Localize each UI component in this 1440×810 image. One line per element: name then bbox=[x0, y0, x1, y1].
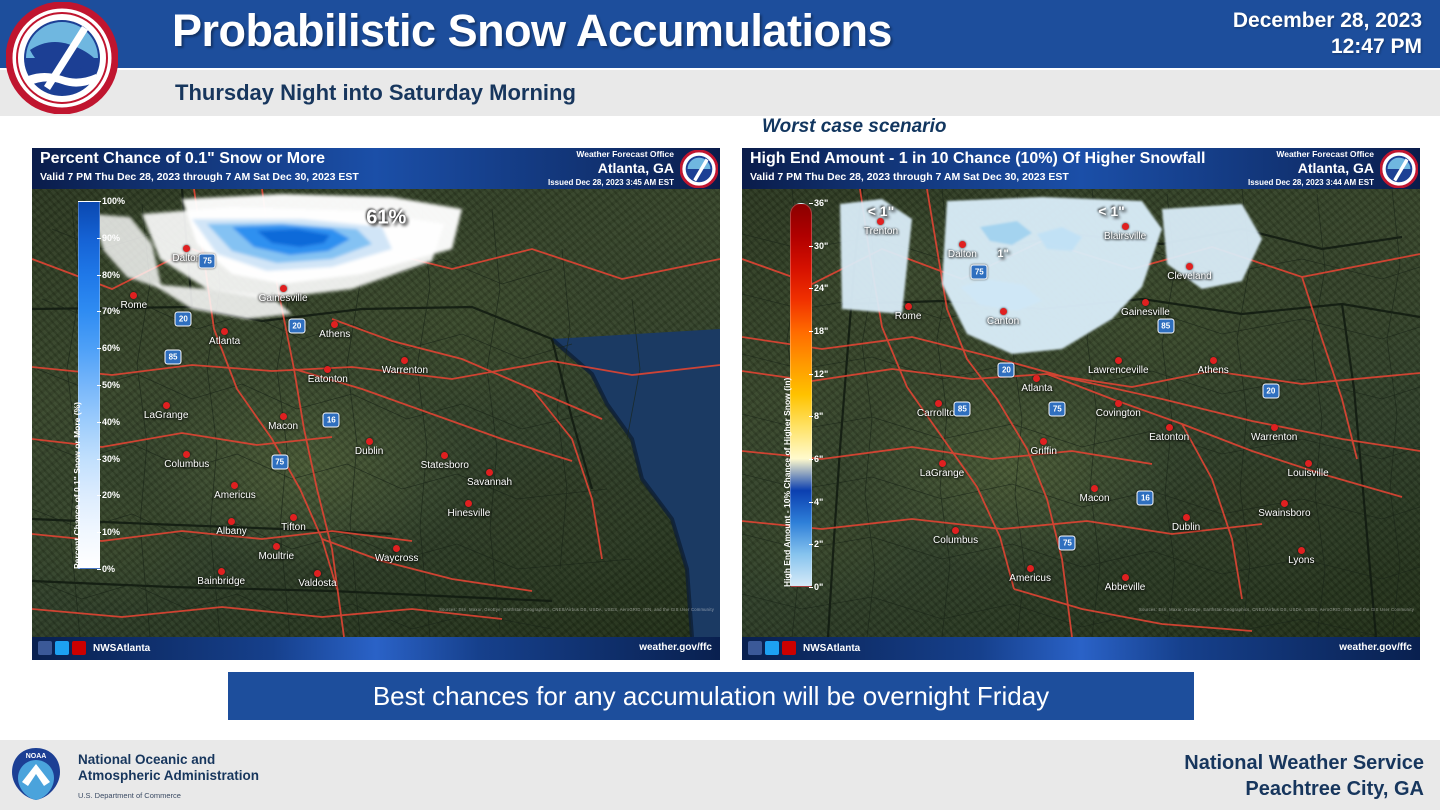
high-end-amount-map-panel: High End Amount - 1 in 10 Chance (10%) O… bbox=[742, 148, 1420, 660]
header-datetime: December 28, 2023 12:47 PM bbox=[1092, 8, 1422, 60]
right-colorbar-gradient bbox=[790, 203, 812, 587]
youtube-icon[interactable] bbox=[782, 641, 796, 655]
right-annotation-1: < 1" bbox=[868, 203, 895, 219]
header-date: December 28, 2023 bbox=[1092, 8, 1422, 34]
city-label: Gainesville bbox=[259, 293, 308, 304]
city-label: LaGrange bbox=[144, 410, 188, 421]
city-label: Hinesville bbox=[447, 508, 490, 519]
city-label: Covington bbox=[1096, 408, 1141, 419]
left-colorbar-tick: 100% bbox=[102, 196, 125, 206]
city-label: Cleveland bbox=[1167, 271, 1211, 282]
probability-map-panel: Percent Chance of 0.1" Snow or More Vali… bbox=[32, 148, 720, 660]
right-office-label: Weather Forecast Office bbox=[1276, 149, 1374, 160]
left-colorbar-tick: 10% bbox=[102, 527, 120, 537]
right-map-canvas[interactable]: < 1" < 1" 1" High End Amount - 10% Chanc… bbox=[742, 189, 1420, 637]
right-colorbar-title: High End Amount - 10% Chance of Higher S… bbox=[782, 378, 792, 587]
summary-caption-box: Best chances for any accumulation will b… bbox=[228, 672, 1194, 720]
city-dot-icon bbox=[1115, 357, 1122, 364]
left-colorbar-tick: 20% bbox=[102, 490, 120, 500]
interstate-shield-icon: 20 bbox=[288, 318, 305, 333]
city-label: Americus bbox=[214, 490, 256, 501]
city-label: Albany bbox=[216, 526, 247, 537]
city-dot-icon bbox=[905, 303, 912, 310]
city-label: Valdosta bbox=[298, 578, 336, 589]
city-dot-icon bbox=[1122, 223, 1129, 230]
right-banner-office: Weather Forecast Office Atlanta, GA bbox=[1276, 149, 1374, 176]
city-dot-icon bbox=[1186, 263, 1193, 270]
probability-peak-annotation: 61% bbox=[366, 207, 406, 230]
city-label: Tifton bbox=[281, 522, 306, 533]
city-dot-icon bbox=[935, 400, 942, 407]
city-dot-icon bbox=[183, 245, 190, 252]
city-label: Blairsville bbox=[1104, 231, 1146, 242]
worst-case-label: Worst case scenario bbox=[762, 116, 946, 138]
city-label: Swainsboro bbox=[1258, 508, 1310, 519]
city-dot-icon bbox=[1040, 438, 1047, 445]
city-dot-icon bbox=[331, 321, 338, 328]
city-label: Eatonton bbox=[1149, 432, 1189, 443]
interstate-shield-icon: 75 bbox=[1049, 401, 1066, 416]
left-social-handle: NWSAtlanta bbox=[93, 643, 150, 654]
city-dot-icon bbox=[465, 500, 472, 507]
left-map-banner: Percent Chance of 0.1" Snow or More Vali… bbox=[32, 148, 720, 189]
city-dot-icon bbox=[1115, 400, 1122, 407]
right-colorbar-tick: 12" bbox=[814, 369, 828, 379]
right-banner-valid-time: Valid 7 PM Thu Dec 28, 2023 through 7 AM… bbox=[750, 171, 1069, 183]
interstate-shield-icon: 20 bbox=[175, 311, 192, 326]
city-label: Columbus bbox=[933, 535, 978, 546]
city-label: Rome bbox=[120, 300, 147, 311]
summary-caption-text: Best chances for any accumulation will b… bbox=[373, 681, 1049, 712]
left-social-links[interactable]: NWSAtlanta bbox=[38, 641, 150, 655]
left-colorbar: Percent Chance of 0.1" Snow or More (%) … bbox=[78, 201, 158, 569]
city-label: Dalton bbox=[172, 253, 201, 264]
right-colorbar: High End Amount - 10% Chance of Higher S… bbox=[790, 203, 870, 587]
left-footer-url[interactable]: weather.gov/ffc bbox=[639, 642, 712, 653]
city-label: Trenton bbox=[864, 226, 898, 237]
city-dot-icon bbox=[1210, 357, 1217, 364]
city-label: Griffin bbox=[1030, 446, 1057, 457]
right-colorbar-tick: 8" bbox=[814, 411, 823, 421]
city-label: Atlanta bbox=[209, 336, 240, 347]
city-label: Warrenton bbox=[382, 365, 428, 376]
left-office-label: Weather Forecast Office bbox=[576, 149, 674, 160]
city-label: Bainbridge bbox=[197, 576, 245, 587]
city-label: Dublin bbox=[355, 446, 383, 457]
right-social-links[interactable]: NWSAtlanta bbox=[748, 641, 860, 655]
interstate-shield-icon: 85 bbox=[954, 401, 971, 416]
nws-line1: National Weather Service bbox=[1184, 750, 1424, 776]
city-label: Canton bbox=[987, 316, 1019, 327]
right-map-banner: High End Amount - 1 in 10 Chance (10%) O… bbox=[742, 148, 1420, 189]
city-dot-icon bbox=[1298, 547, 1305, 554]
right-banner-title: High End Amount - 1 in 10 Chance (10%) O… bbox=[750, 150, 1205, 168]
noaa-department: U.S. Department of Commerce bbox=[78, 788, 259, 804]
city-dot-icon bbox=[441, 452, 448, 459]
left-colorbar-tick: 0% bbox=[102, 564, 115, 574]
city-label: Warrenton bbox=[1251, 432, 1297, 443]
noaa-agency-text: National Oceanic and Atmospheric Adminis… bbox=[78, 752, 259, 804]
page-title: Probabilistic Snow Accumulations bbox=[172, 5, 892, 57]
page-subtitle: Thursday Night into Saturday Morning bbox=[175, 80, 576, 106]
city-label: Lawrenceville bbox=[1088, 365, 1149, 376]
left-map-credit: Sources: Esri, Maxar, GeoEye, Earthstar … bbox=[439, 607, 714, 612]
facebook-icon[interactable] bbox=[38, 641, 52, 655]
left-colorbar-tick: 40% bbox=[102, 417, 120, 427]
city-dot-icon bbox=[1091, 485, 1098, 492]
nws-office-text: National Weather Service Peachtree City,… bbox=[1184, 750, 1424, 802]
right-office-city: Atlanta, GA bbox=[1276, 160, 1374, 176]
right-annotation-2: < 1" bbox=[1098, 203, 1125, 219]
interstate-shield-icon: 16 bbox=[323, 412, 340, 427]
left-banner-title: Percent Chance of 0.1" Snow or More bbox=[40, 150, 325, 168]
city-dot-icon bbox=[401, 357, 408, 364]
city-dot-icon bbox=[1033, 375, 1040, 382]
interstate-shield-icon: 75 bbox=[971, 264, 988, 279]
left-banner-valid-time: Valid 7 PM Thu Dec 28, 2023 through 7 AM… bbox=[40, 171, 359, 183]
city-dot-icon bbox=[163, 402, 170, 409]
noaa-line2: Atmospheric Administration bbox=[78, 768, 259, 784]
city-label: Eatonton bbox=[308, 374, 348, 385]
city-label: Dalton bbox=[948, 249, 977, 260]
city-dot-icon bbox=[1142, 299, 1149, 306]
right-colorbar-tick: 0" bbox=[814, 582, 823, 592]
city-label: Dublin bbox=[1172, 522, 1200, 533]
city-label: LaGrange bbox=[920, 468, 964, 479]
city-dot-icon bbox=[952, 527, 959, 534]
right-footer-url[interactable]: weather.gov/ffc bbox=[1339, 642, 1412, 653]
city-label: Savannah bbox=[467, 477, 512, 488]
left-colorbar-tick: 80% bbox=[102, 270, 120, 280]
city-dot-icon bbox=[1183, 514, 1190, 521]
right-map-footer: NWSAtlanta weather.gov/ffc bbox=[742, 637, 1420, 660]
city-dot-icon bbox=[130, 292, 137, 299]
city-dot-icon bbox=[231, 482, 238, 489]
city-label: Waycross bbox=[375, 553, 419, 564]
city-label: Macon bbox=[1080, 493, 1110, 504]
facebook-icon[interactable] bbox=[748, 641, 762, 655]
twitter-icon[interactable] bbox=[55, 641, 69, 655]
city-label: Gainesville bbox=[1121, 307, 1170, 318]
weather-graphic: Probabilistic Snow Accumulations Decembe… bbox=[0, 0, 1440, 810]
city-dot-icon bbox=[366, 438, 373, 445]
twitter-icon[interactable] bbox=[765, 641, 779, 655]
city-dot-icon bbox=[486, 469, 493, 476]
city-label: Lyons bbox=[1288, 555, 1314, 566]
city-dot-icon bbox=[1000, 308, 1007, 315]
left-map-canvas[interactable]: 61% Percent Chance of 0.1" Snow or More … bbox=[32, 189, 720, 637]
city-label: Athens bbox=[1198, 365, 1229, 376]
left-colorbar-title: Percent Chance of 0.1" Snow or More (%) bbox=[72, 402, 82, 569]
city-label: Columbus bbox=[164, 459, 209, 470]
city-dot-icon bbox=[290, 514, 297, 521]
youtube-icon[interactable] bbox=[72, 641, 86, 655]
interstate-shield-icon: 75 bbox=[271, 455, 288, 470]
city-dot-icon bbox=[1122, 574, 1129, 581]
city-label: Athens bbox=[319, 329, 350, 340]
left-banner-issued: Issued Dec 28, 2023 3:45 AM EST bbox=[548, 178, 674, 187]
city-dot-icon bbox=[221, 328, 228, 335]
left-colorbar-tick: 70% bbox=[102, 306, 120, 316]
interstate-shield-icon: 75 bbox=[1059, 535, 1076, 550]
nws-roundel-icon bbox=[1380, 150, 1418, 188]
header-time: 12:47 PM bbox=[1092, 34, 1422, 60]
interstate-shield-icon: 16 bbox=[1137, 491, 1154, 506]
city-label: Abbeville bbox=[1105, 582, 1146, 593]
noaa-seal-icon: NOAA bbox=[8, 746, 64, 802]
city-label: Rome bbox=[895, 311, 922, 322]
city-dot-icon bbox=[273, 543, 280, 550]
noaa-line1: National Oceanic and bbox=[78, 752, 259, 768]
nws-roundel-icon bbox=[680, 150, 718, 188]
city-dot-icon bbox=[1166, 424, 1173, 431]
city-label: Atlanta bbox=[1021, 383, 1052, 394]
city-dot-icon bbox=[939, 460, 946, 467]
right-banner-issued: Issued Dec 28, 2023 3:44 AM EST bbox=[1248, 178, 1374, 187]
city-label: Statesboro bbox=[421, 460, 469, 471]
right-colorbar-tick: 36" bbox=[814, 198, 828, 208]
right-colorbar-tick: 24" bbox=[814, 283, 828, 293]
right-colorbar-tick: 30" bbox=[814, 241, 828, 251]
right-colorbar-tick: 4" bbox=[814, 497, 823, 507]
right-map-credit: Sources: Esri, Maxar, GeoEye, Earthstar … bbox=[1139, 607, 1414, 612]
interstate-shield-icon: 75 bbox=[199, 253, 216, 268]
city-label: Moultrie bbox=[258, 551, 294, 562]
city-label: Americus bbox=[1009, 573, 1051, 584]
city-dot-icon bbox=[324, 366, 331, 373]
city-dot-icon bbox=[959, 241, 966, 248]
right-colorbar-tick: 6" bbox=[814, 454, 823, 464]
city-dot-icon bbox=[1271, 424, 1278, 431]
interstate-shield-icon: 85 bbox=[165, 350, 182, 365]
svg-text:NOAA: NOAA bbox=[26, 753, 47, 760]
city-label: Macon bbox=[268, 421, 298, 432]
city-dot-icon bbox=[183, 451, 190, 458]
left-map-footer: NWSAtlanta weather.gov/ffc bbox=[32, 637, 720, 660]
city-dot-icon bbox=[228, 518, 235, 525]
right-colorbar-tick: 2" bbox=[814, 539, 823, 549]
city-dot-icon bbox=[393, 545, 400, 552]
left-banner-office: Weather Forecast Office Atlanta, GA bbox=[576, 149, 674, 176]
city-dot-icon bbox=[280, 285, 287, 292]
nws-roundel-icon bbox=[6, 2, 118, 114]
left-office-city: Atlanta, GA bbox=[576, 160, 674, 176]
nws-line2: Peachtree City, GA bbox=[1184, 776, 1424, 802]
city-dot-icon bbox=[1281, 500, 1288, 507]
interstate-shield-icon: 20 bbox=[998, 363, 1015, 378]
city-dot-icon bbox=[314, 570, 321, 577]
city-dot-icon bbox=[1305, 460, 1312, 467]
left-colorbar-tick: 90% bbox=[102, 233, 120, 243]
left-colorbar-tick: 60% bbox=[102, 343, 120, 353]
interstate-shield-icon: 85 bbox=[1157, 318, 1174, 333]
city-dot-icon bbox=[280, 413, 287, 420]
city-label: Louisville bbox=[1288, 468, 1329, 479]
city-dot-icon bbox=[1027, 565, 1034, 572]
right-annotation-3: 1" bbox=[997, 248, 1008, 260]
city-dot-icon bbox=[877, 218, 884, 225]
right-colorbar-tick: 18" bbox=[814, 326, 828, 336]
right-social-handle: NWSAtlanta bbox=[803, 643, 860, 654]
interstate-shield-icon: 20 bbox=[1262, 383, 1279, 398]
city-dot-icon bbox=[218, 568, 225, 575]
left-colorbar-tick: 50% bbox=[102, 380, 120, 390]
left-colorbar-tick: 30% bbox=[102, 454, 120, 464]
